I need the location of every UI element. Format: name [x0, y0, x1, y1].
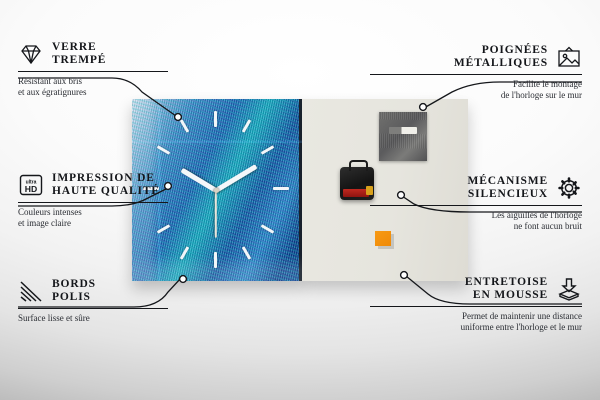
- metal-hanger-plate: [379, 112, 427, 161]
- callout-mecanisme-silencieux: MÉCANISME SILENCIEUX Les aiguilles de l'…: [370, 175, 582, 232]
- callout-bords-polis: BORDS POLIS Surface lisse et sûre: [18, 278, 230, 324]
- diamond-icon: [18, 42, 44, 66]
- callout-title: VERRE TREMPÉ: [52, 41, 106, 67]
- callout-header: MÉCANISME SILENCIEUX: [370, 175, 582, 201]
- callout-description: Les aiguilles de l'horloge ne font aucun…: [370, 210, 582, 232]
- infographic-canvas: VERRE TREMPÉ Résistant aux bris et aux é…: [0, 0, 600, 400]
- clock-tick: [214, 252, 217, 268]
- callout-header: BORDS POLIS: [18, 278, 230, 304]
- clock-tick: [273, 187, 289, 190]
- callout-rule: [370, 306, 582, 307]
- callout-title: ENTRETOISE EN MOUSSE: [465, 276, 548, 302]
- callout-description: Surface lisse et sûre: [18, 313, 230, 324]
- callout-header: ultra HD IMPRESSION DE HAUTE QUALITÉ: [18, 172, 230, 198]
- clock-tick: [261, 224, 275, 234]
- clock-tick: [242, 246, 252, 260]
- callout-verre-trempe: VERRE TREMPÉ Résistant aux bris et aux é…: [18, 41, 230, 98]
- callout-poignees-metalliques: POIGNÉES MÉTALLIQUES Facilite le montage…: [370, 44, 582, 101]
- clock-tick: [214, 111, 217, 127]
- callout-header: ENTRETOISE EN MOUSSE: [370, 276, 582, 302]
- callout-title: POIGNÉES MÉTALLIQUES: [454, 44, 548, 70]
- clock-tick: [242, 119, 252, 133]
- callout-header: POIGNÉES MÉTALLIQUES: [370, 44, 582, 70]
- callout-rule: [370, 74, 582, 75]
- callout-description: Facilite le montage de l'horloge sur le …: [370, 79, 582, 101]
- foam-spacer: [375, 231, 391, 246]
- battery: [343, 189, 369, 197]
- callout-title: IMPRESSION DE HAUTE QUALITÉ: [52, 172, 160, 198]
- callout-rule: [370, 205, 582, 206]
- clock-tick: [180, 246, 190, 260]
- ultra-hd-icon: ultra HD: [18, 173, 44, 197]
- callout-rule: [18, 202, 168, 203]
- mechanism-hanger-loop: [349, 160, 368, 171]
- callout-impression-haute-qualite: ultra HD IMPRESSION DE HAUTE QUALITÉ Cou…: [18, 172, 230, 229]
- callout-rule: [18, 308, 168, 309]
- clock-tick: [261, 145, 275, 155]
- callout-rule: [18, 71, 168, 72]
- hanger-slot: [389, 127, 417, 134]
- callout-title: BORDS POLIS: [52, 278, 96, 304]
- polished-edge-lines-icon: [18, 279, 44, 303]
- gear-icon: [556, 176, 582, 200]
- callout-description: Permet de maintenir une distance uniform…: [370, 311, 582, 333]
- arrow-onto-pad-icon: [556, 277, 582, 301]
- hanging-frame-icon: [556, 45, 582, 69]
- clock-tick: [157, 145, 171, 155]
- callout-description: Résistant aux bris et aux égratignures: [18, 76, 230, 98]
- clock-mechanism: [340, 167, 374, 200]
- callout-header: VERRE TREMPÉ: [18, 41, 230, 67]
- callout-entretoise-en-mousse: ENTRETOISE EN MOUSSE Permet de maintenir…: [370, 276, 582, 333]
- svg-text:HD: HD: [25, 184, 37, 194]
- callout-title: MÉCANISME SILENCIEUX: [468, 175, 549, 201]
- callout-description: Couleurs intenses et image claire: [18, 207, 230, 229]
- clock-tick: [180, 119, 190, 133]
